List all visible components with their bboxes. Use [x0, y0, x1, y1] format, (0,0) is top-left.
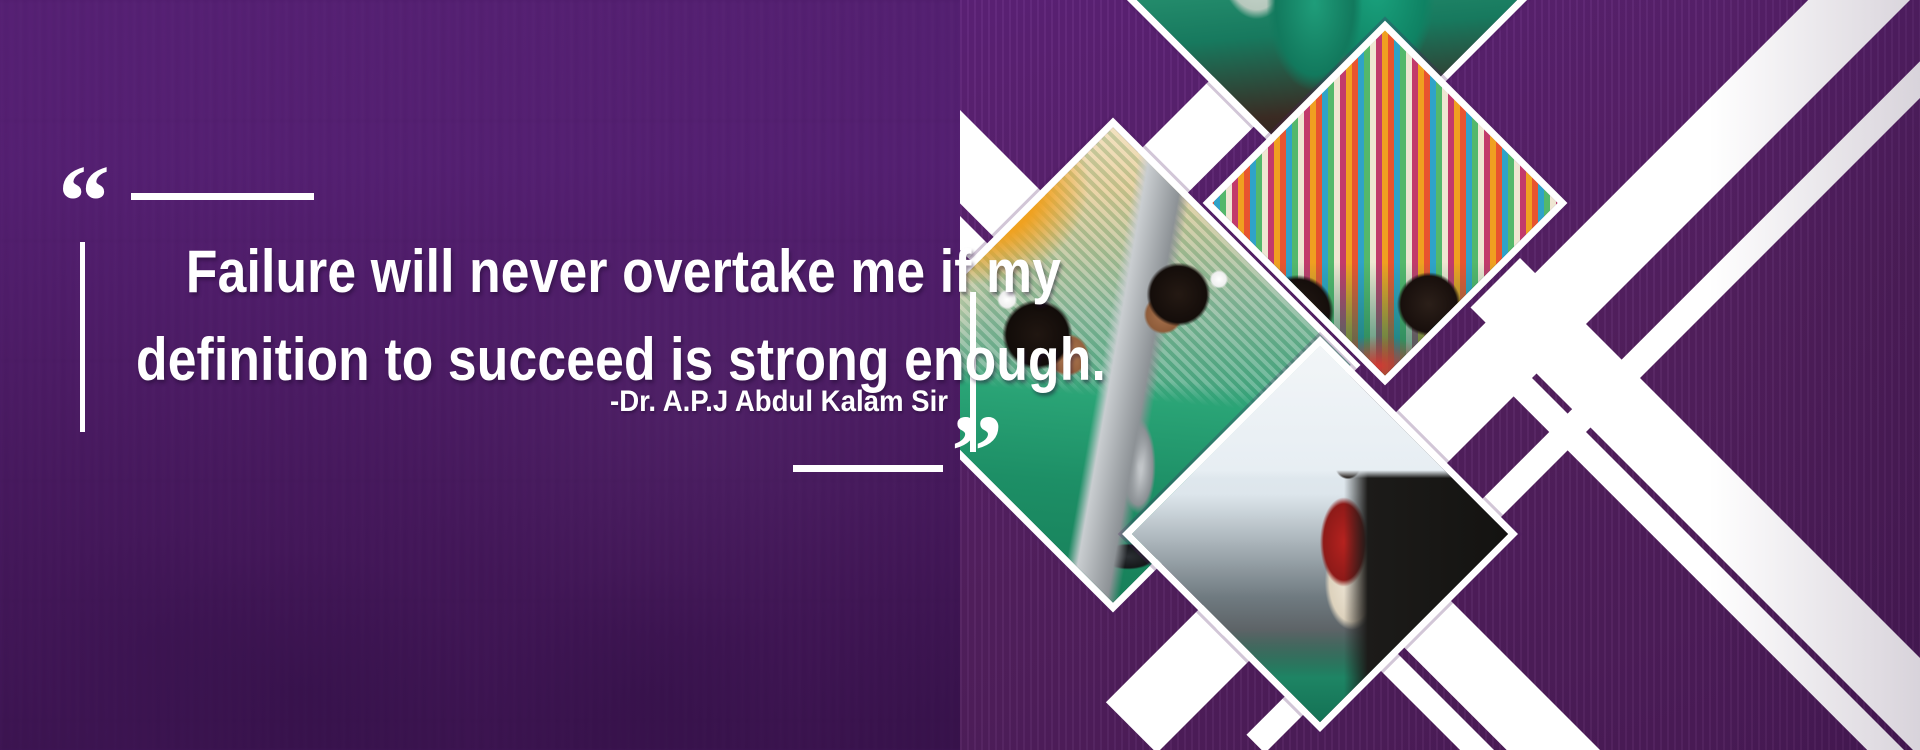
quote-left-bar: [80, 242, 85, 432]
quote-bottom-rule: [793, 465, 943, 472]
closing-quote-icon: ”: [951, 420, 999, 484]
quote-top-rule: [131, 193, 314, 200]
opening-quote-icon: “: [58, 170, 106, 234]
quote-line-1: Failure will never overtake me if my: [136, 228, 896, 316]
quote-block: “ Failure will never overtake me if my d…: [58, 170, 1018, 640]
quote-text: Failure will never overtake me if my def…: [136, 228, 1020, 404]
quote-attribution: -Dr. A.P.J Abdul Kalam Sir: [129, 385, 948, 419]
quote-banner: “ Failure will never overtake me if my d…: [0, 0, 1920, 750]
